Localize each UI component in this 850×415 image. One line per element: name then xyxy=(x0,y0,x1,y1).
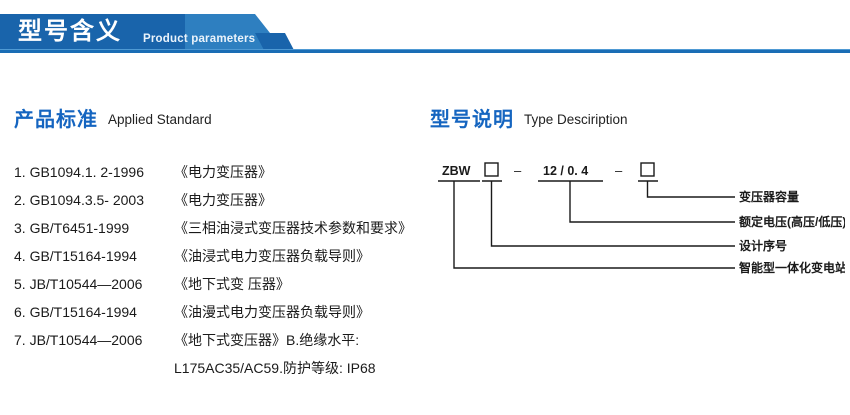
standard-code: 7. JB/T10544—2006 xyxy=(14,332,174,348)
standard-code: 2. GB1094.3.5- 2003 xyxy=(14,192,174,208)
standard-continuation-line: L175AC35/AC59.防护等级: IP68 xyxy=(174,358,376,378)
list-item: 2. GB1094.3.5- 2003 《电力变压器》 xyxy=(14,190,424,218)
standard-title: 《电力变压器》 xyxy=(174,162,272,182)
callout-label-zbw: 智能型一体化变电站 xyxy=(738,260,845,275)
list-item: 5. JB/T10544—2006 《地下式变 压器》 xyxy=(14,274,424,302)
standard-title: 《三相油浸式变压器技术参数和要求》 xyxy=(174,218,412,238)
banner-divider-rule xyxy=(0,49,850,53)
standard-title: 《电力变压器》 xyxy=(174,190,272,210)
type-code-token-zbw: ZBW xyxy=(442,164,471,178)
section-heading-left-english: Applied Standard xyxy=(108,112,212,127)
type-code-box-capacity xyxy=(641,163,654,176)
standard-code: 6. GB/T15164-1994 xyxy=(14,304,174,320)
banner-title-chinese: 型号含义 xyxy=(18,17,122,47)
standard-code: 3. GB/T6451-1999 xyxy=(14,220,174,236)
applied-standards-list: 1. GB1094.1. 2-1996 《电力变压器》 2. GB1094.3.… xyxy=(14,162,424,358)
type-code-box-design-serial xyxy=(485,163,498,176)
standard-code: 4. GB/T15164-1994 xyxy=(14,248,174,264)
list-item: 6. GB/T15164-1994 《油漫式电力变压器负载导则》 xyxy=(14,302,424,330)
standard-title: 《油漫式电力变压器负载导则》 xyxy=(174,302,370,322)
callout-label-capacity: 变压器容量 xyxy=(739,189,799,204)
type-code-dash-2: – xyxy=(615,163,623,178)
standard-title: 《油浸式电力变压器负载导则》 xyxy=(174,246,370,266)
section-heading-type-description: 型号说明Type Desciription xyxy=(430,103,628,132)
list-item: 7. JB/T10544—2006 《地下式变压器》B.绝缘水平: xyxy=(14,330,424,358)
type-designation-diagram: ZBW – 12 / 0. 4 – 变压器容量 额定电压(高压/低压) 设计序号… xyxy=(430,155,845,290)
callout-label-design-serial: 设计序号 xyxy=(739,238,787,253)
leader-line-zbw xyxy=(454,181,735,268)
leader-line-voltage xyxy=(570,181,735,222)
section-heading-right-chinese: 型号说明 xyxy=(430,109,514,131)
type-code-dash-1: – xyxy=(514,163,522,178)
section-heading-right-english: Type Desciription xyxy=(524,112,628,127)
section-heading-applied-standard: 产品标准Applied Standard xyxy=(14,103,212,132)
section-heading-left-chinese: 产品标准 xyxy=(14,109,98,131)
leader-line-capacity xyxy=(648,181,736,197)
list-item: 4. GB/T15164-1994 《油浸式电力变压器负载导则》 xyxy=(14,246,424,274)
banner-title-english: Product parameters xyxy=(143,33,255,45)
leader-line-design-serial xyxy=(492,181,736,246)
standard-title: 《地下式变 压器》 xyxy=(174,274,290,294)
standard-title: 《地下式变压器》B.绝缘水平: xyxy=(174,330,359,350)
list-item: 3. GB/T6451-1999 《三相油浸式变压器技术参数和要求》 xyxy=(14,218,424,246)
page-header-banner: 型号含义 Product parameters xyxy=(0,0,850,58)
standard-code: 5. JB/T10544—2006 xyxy=(14,276,174,292)
list-item: 1. GB1094.1. 2-1996 《电力变压器》 xyxy=(14,162,424,190)
standard-code: 1. GB1094.1. 2-1996 xyxy=(14,164,174,180)
callout-label-voltage: 额定电压(高压/低压) xyxy=(739,214,845,229)
type-code-token-voltage: 12 / 0. 4 xyxy=(543,164,588,178)
